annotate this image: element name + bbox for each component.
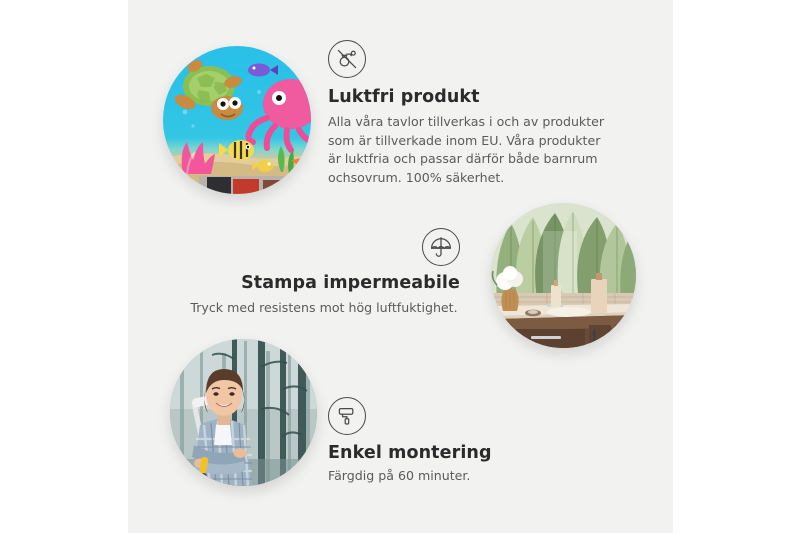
feature-icon-wrap bbox=[188, 228, 460, 266]
underwater-scene-illustration bbox=[163, 46, 311, 194]
feature-body: Tryck med resistens mot hög luftfuktighe… bbox=[188, 299, 460, 318]
woman-with-paint-roller-illustration bbox=[170, 339, 317, 486]
feature-heading: Luktfri produkt bbox=[328, 87, 616, 108]
feature-heading: Enkel montering bbox=[328, 443, 578, 464]
feature-odour-free: Luktfri produkt Alla våra tavlor tillver… bbox=[328, 40, 616, 187]
bathroom-interior-illustration bbox=[491, 203, 636, 348]
feature-icon-wrap bbox=[328, 40, 616, 78]
feature-heading: Stampa impermeabile bbox=[188, 273, 460, 294]
feature-icon-wrap bbox=[328, 397, 578, 435]
feature-body: Alla våra tavlor tillverkas i och av pro… bbox=[328, 113, 616, 187]
no-perfume-spray-icon bbox=[328, 40, 366, 78]
feature-easy-mounting: Enkel montering Färgdig på 60 minuter. bbox=[328, 397, 578, 486]
feature-image-waterproof bbox=[491, 203, 636, 348]
feature-body: Färgdig på 60 minuter. bbox=[328, 467, 578, 486]
content-panel: Luktfri produkt Alla våra tavlor tillver… bbox=[128, 0, 673, 533]
feature-image-odour-free bbox=[163, 46, 311, 194]
paint-roller-icon bbox=[328, 397, 366, 435]
product-feature-infographic: Luktfri produkt Alla våra tavlor tillver… bbox=[0, 0, 800, 533]
feature-image-easy-mounting bbox=[170, 339, 317, 486]
umbrella-icon bbox=[422, 228, 460, 266]
feature-waterproof: Stampa impermeabile Tryck med resistens … bbox=[188, 228, 460, 318]
